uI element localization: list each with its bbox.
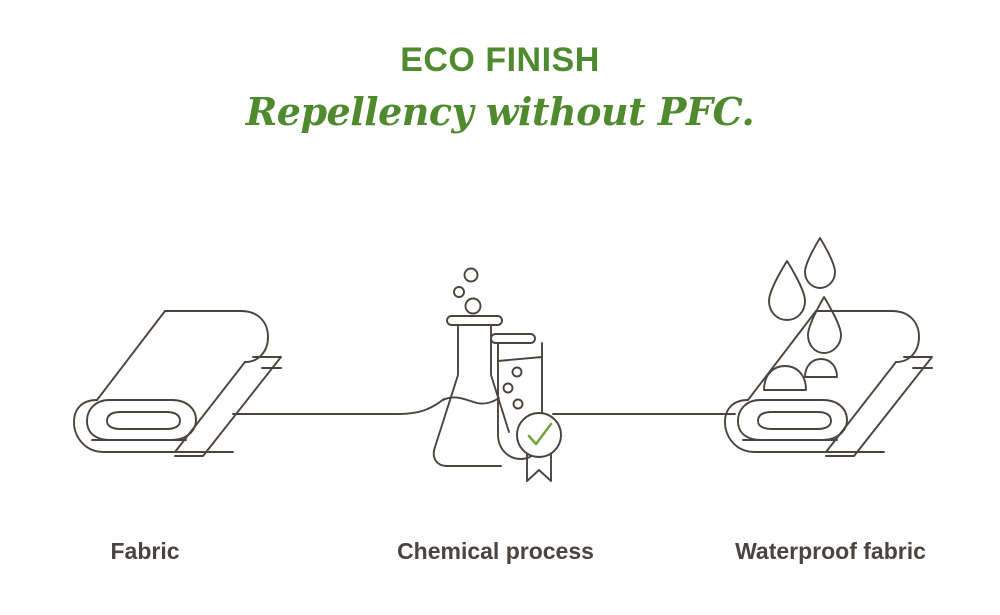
folded-fabric-icon (74, 311, 281, 456)
tube-bubble-icon (504, 384, 513, 393)
tube-bubble-icon (513, 368, 522, 377)
illustration-layer (0, 0, 1000, 615)
step-label-chemical-process: Chemical process (388, 538, 603, 565)
step-label-waterproof-fabric: Waterproof fabric (718, 538, 943, 565)
process-flow-line (233, 399, 735, 414)
falling-droplets-icon (769, 238, 841, 353)
certified-check-badge (517, 413, 561, 481)
waterproof-fabric-icon (725, 238, 932, 456)
flask-bubbles-icon (454, 269, 481, 314)
chemical-process-icon (434, 269, 561, 482)
step-labels-row: Fabric Chemical process Waterproof fabri… (0, 538, 1000, 572)
step-label-fabric: Fabric (40, 538, 250, 565)
eco-finish-infographic: ECO FINISH Repellency without PFC. (0, 0, 1000, 615)
tube-bubble-icon (514, 400, 523, 409)
